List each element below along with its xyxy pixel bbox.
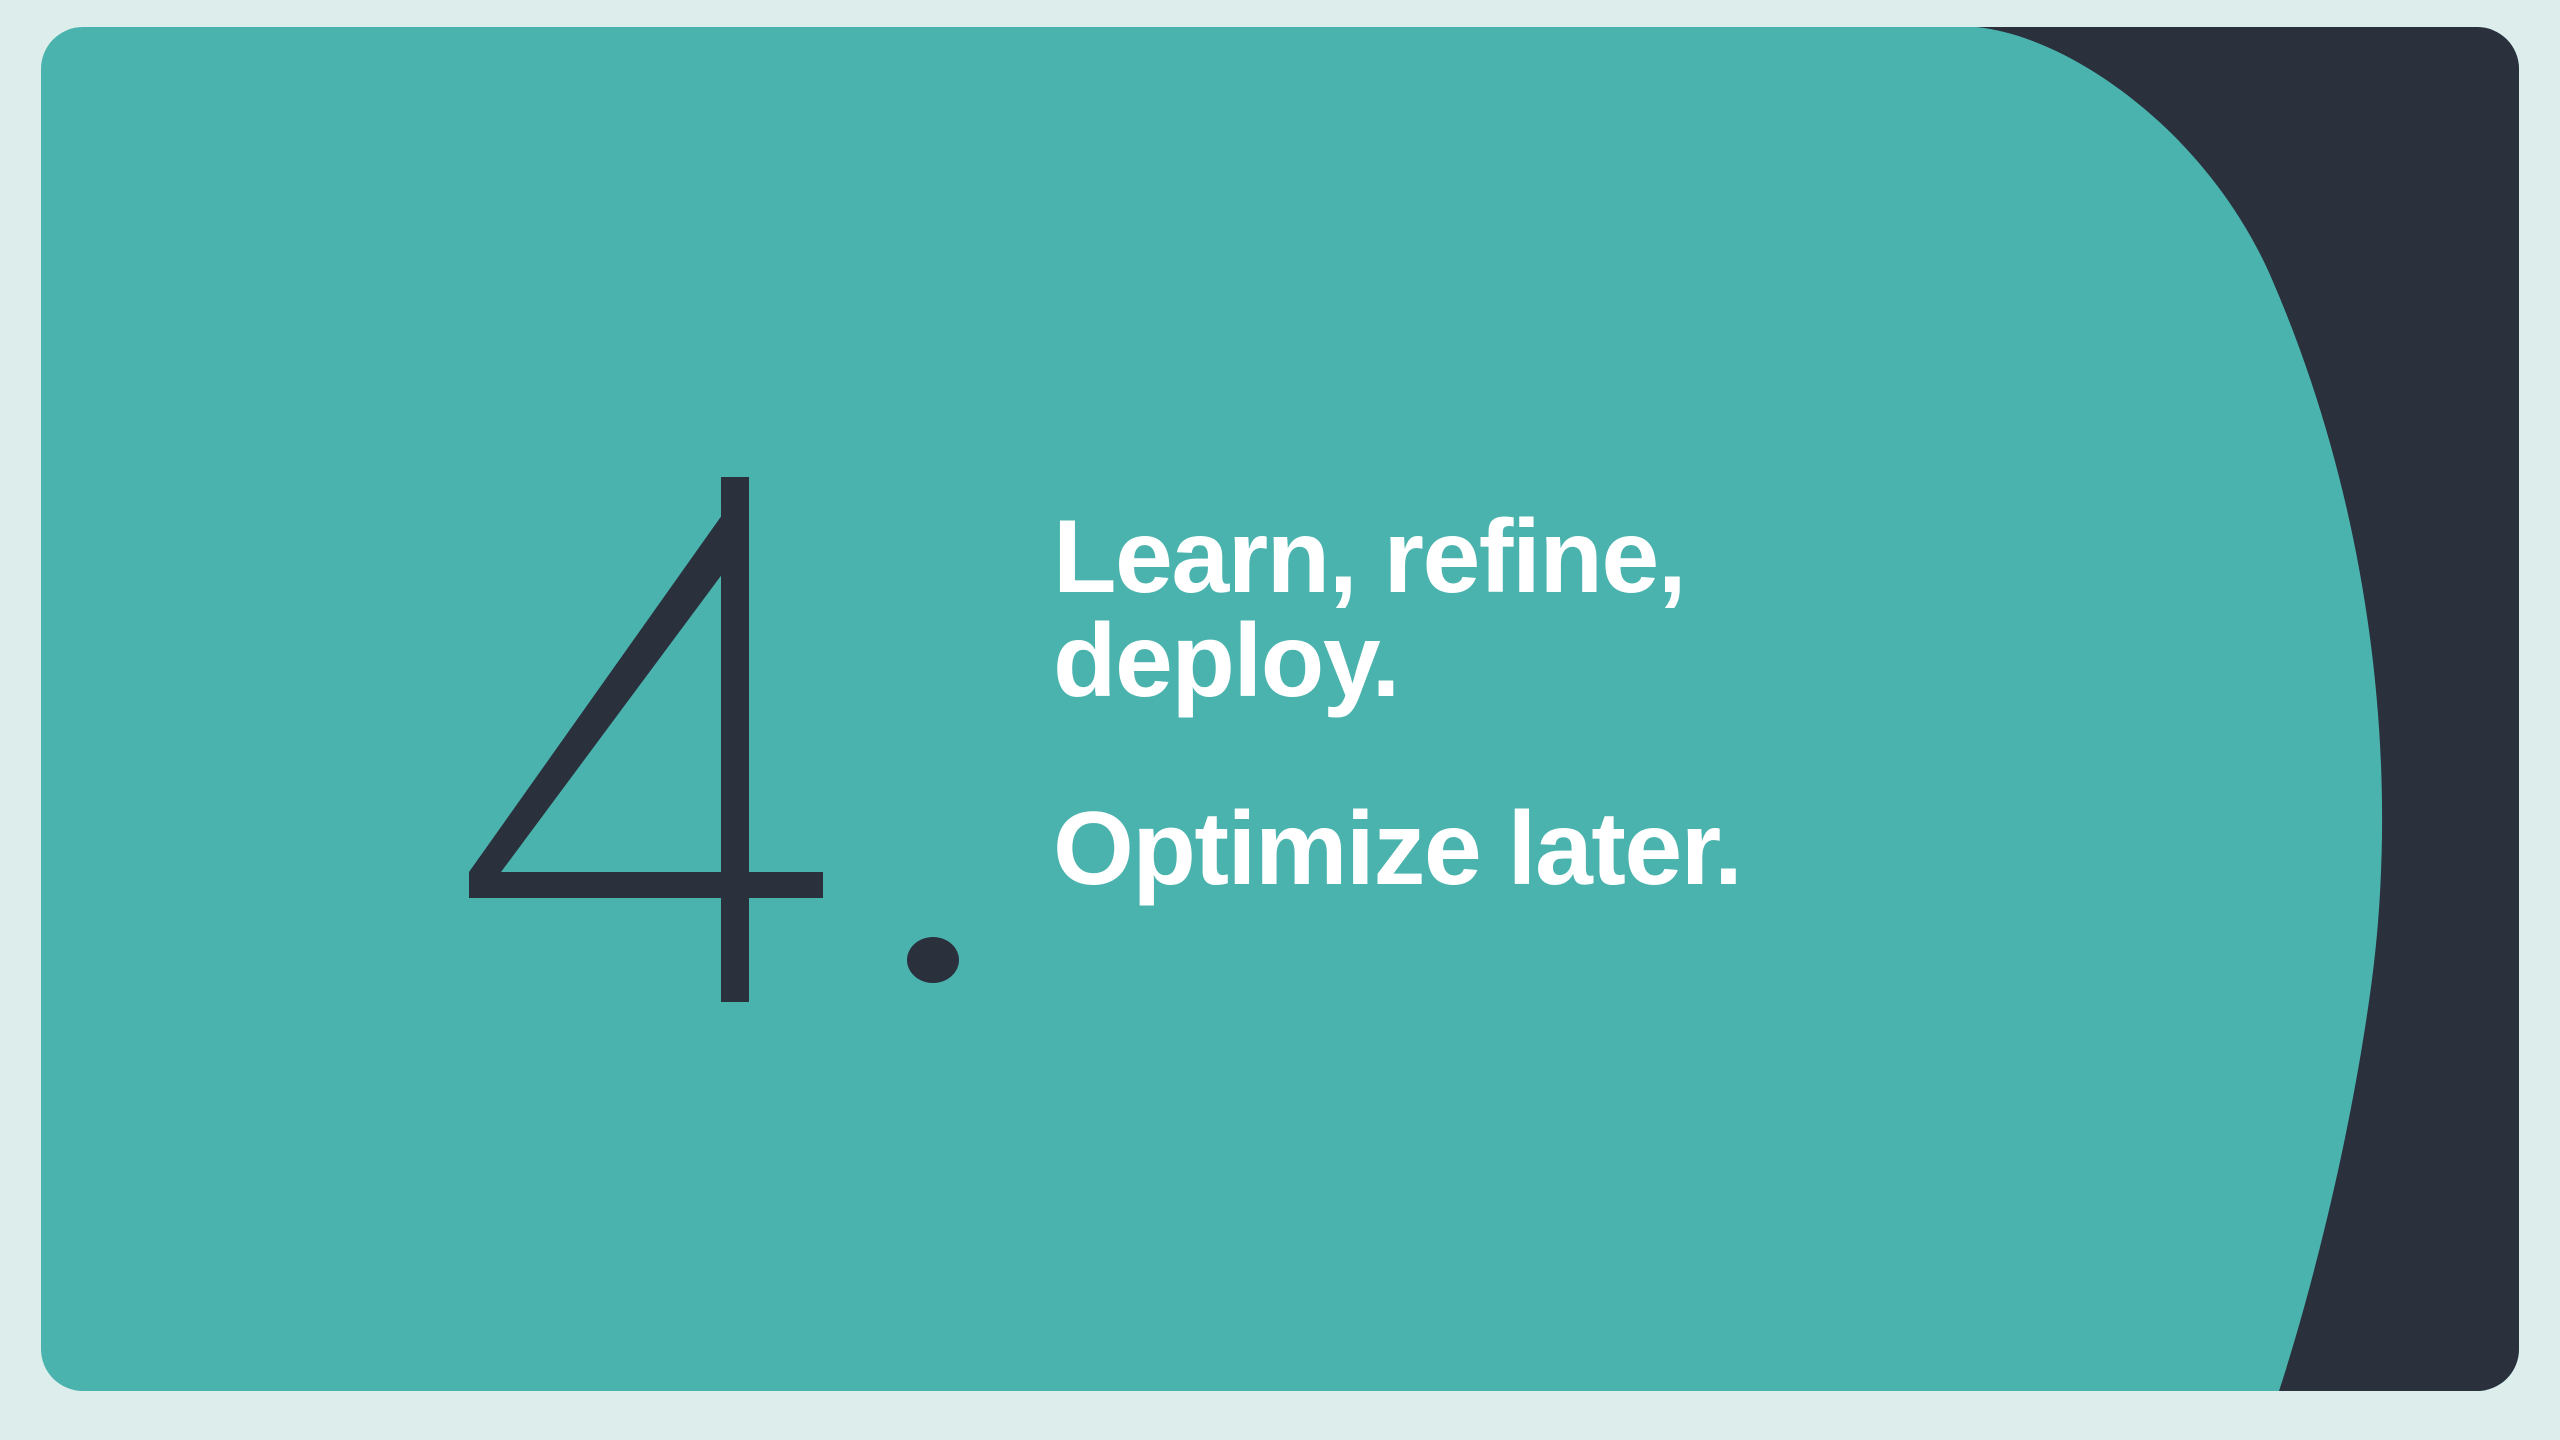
slide-stage: Learn, refine, deploy. Optimize later.	[0, 0, 2560, 1440]
headline-block: Learn, refine, deploy. Optimize later.	[1053, 505, 2233, 901]
slide-content: Learn, refine, deploy. Optimize later.	[41, 27, 2519, 1391]
headline-group-secondary: Optimize later.	[1053, 797, 2233, 901]
headline-line-1: Learn, refine,	[1053, 505, 2233, 609]
headline-group-primary: Learn, refine, deploy.	[1053, 505, 2233, 713]
numeral-four-diagonal	[469, 477, 749, 872]
headline-line-3: Optimize later.	[1053, 797, 2233, 901]
numeral-four-icon	[431, 442, 831, 1002]
slide-card: Learn, refine, deploy. Optimize later.	[41, 27, 2519, 1391]
numeral-four-crossbar	[469, 872, 823, 898]
period-dot-icon	[907, 937, 959, 983]
headline-line-2: deploy.	[1053, 609, 2233, 713]
